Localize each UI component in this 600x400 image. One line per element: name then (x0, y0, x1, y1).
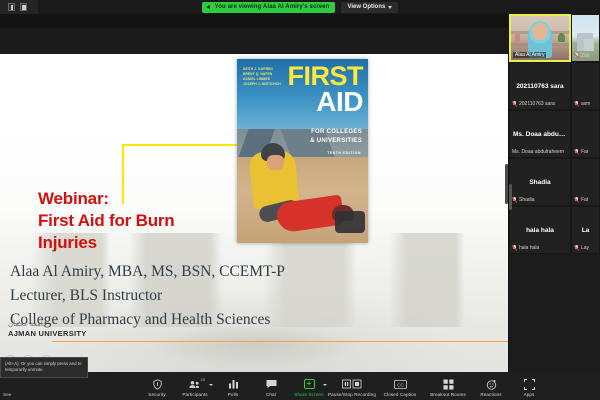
tile-corner-label: hala hala (512, 245, 539, 251)
logo-rule-line (52, 341, 508, 343)
tile-display-name: hala hala (523, 227, 557, 234)
logo-english-text: AJMAN UNIVERSITY (8, 329, 126, 338)
mic-muted-icon (574, 149, 579, 155)
book-edition: TENTH EDITION (327, 151, 361, 155)
tile-name-text: Shadia (519, 197, 535, 203)
toolbar-label: Participants (182, 392, 207, 397)
toolbar-button-share-screen[interactable]: + Share Screen (290, 376, 328, 397)
toolbar-label: Breakout Rooms (430, 392, 466, 397)
toolbar-button-participants[interactable]: 10 Participants (176, 376, 214, 397)
slide-title-line: First Aid for Burn (38, 210, 174, 232)
tile-display-name: 202110763 sara (513, 83, 566, 90)
toolbar-label: Pause/Stop Recording (328, 392, 376, 397)
participant-tile[interactable]: hala hala hala hala (509, 206, 571, 254)
zoom-meeting-window: You are viewing Alaa Al Amiry's screen V… (0, 0, 600, 400)
shield-icon (152, 379, 163, 390)
chevron-up-icon[interactable] (209, 384, 213, 386)
presenter-line: Lecturer, BLS Instructor (10, 284, 285, 308)
tile-name-text: Fat (581, 197, 588, 203)
mic-muted-icon (512, 101, 517, 107)
video-object (515, 34, 520, 42)
participant-tile[interactable]: Shadia Shadia (509, 158, 571, 206)
participant-tile[interactable]: La Lay (571, 206, 600, 254)
tile-name-text: Lay (581, 245, 589, 251)
gallery-row: Ms. Doaa abdulr... Ms. Doaa abdulraheem … (509, 110, 600, 158)
toolbar-button-polls[interactable]: Polls (214, 376, 252, 397)
toolbar-button-apps[interactable]: Apps (510, 376, 548, 397)
mic-muted-icon (512, 197, 517, 203)
participant-tile[interactable]: Fat (571, 158, 600, 206)
book-bicycle (335, 211, 365, 233)
mic-muted-icon (512, 245, 517, 251)
tile-corner-label: Fat (574, 197, 588, 203)
screen-sharing-notice: You are viewing Alaa Al Amiry's screen (202, 2, 336, 13)
tile-corner-label: Lay (574, 245, 589, 251)
pause-stop-recording-icon (342, 379, 362, 390)
toolbar-label: Share Screen (294, 392, 323, 397)
participant-tile[interactable]: Ms. Doaa abdulr... Ms. Doaa abdulraheem (509, 110, 571, 158)
shared-screen-stage[interactable]: KEITH J. KARREN BRENT Q. HAFEN DANIEL LI… (0, 14, 509, 372)
toolbar-label: Security (148, 392, 165, 397)
mic-muted-icon (574, 197, 579, 203)
tile-name-text: 202110763 sara (519, 101, 555, 107)
toolbar-button-closed-caption[interactable]: CC Closed Caption (376, 376, 424, 397)
book-subtitle-line1: FOR COLLEGES (311, 129, 362, 135)
book-cover-image: KEITH J. KARREN BRENT Q. HAFEN DANIEL LI… (237, 59, 368, 243)
video-plant (558, 33, 565, 42)
participant-gallery[interactable]: Alaa Al Amiry Zah 202110763 sara 20 (509, 14, 600, 372)
participant-tile[interactable]: 202110763 sara 202110763 sara (509, 62, 571, 110)
mic-muted-icon (574, 101, 579, 107)
mic-muted-icon (574, 245, 579, 251)
participants-count-badge: 10 (201, 378, 205, 382)
tile-corner-label: 202110763 sara (512, 101, 555, 107)
slide-title: Webinar: First Aid for Burn Injuries (38, 188, 174, 253)
participant-tile-active-speaker[interactable]: Alaa Al Amiry (509, 14, 571, 62)
participant-tile[interactable]: Far (571, 110, 600, 158)
logo-arabic-text: جامعة عجمان (8, 320, 126, 328)
view-options-label: View Options (347, 4, 385, 10)
book-author: JOSEPH J. MISTOVICH (243, 82, 281, 87)
toolbar-button-breakout-rooms[interactable]: Breakout Rooms (424, 376, 472, 397)
mic-muted-icon (574, 53, 579, 59)
tile-corner-label: Ms. Doaa abdulraheem (512, 149, 564, 155)
book-title-aid: AID (316, 90, 363, 115)
book-author-list: KEITH J. KARREN BRENT Q. HAFEN DANIEL LI… (243, 67, 281, 87)
gallery-row: Shadia Shadia Fat (509, 158, 600, 206)
view-options-button[interactable]: View Options (341, 2, 398, 13)
presentation-slide: KEITH J. KARREN BRENT Q. HAFEN DANIEL LI… (0, 28, 508, 372)
chevron-down-icon (388, 6, 392, 9)
share-screen-icon: + (304, 379, 315, 390)
tile-display-name: La (579, 227, 593, 234)
presenter-line: Alaa Al Amiry, MBA, MS, BSN, CCEMT-P (10, 260, 285, 284)
speaker-icon (206, 4, 212, 10)
chat-bubble-icon (266, 379, 277, 390)
poll-bars-icon (228, 379, 239, 390)
gallery-scrollbar[interactable] (509, 184, 512, 210)
book-subtitle-line2: & UNIVERSITIES (310, 138, 362, 144)
toolbar-label: Closed Caption (384, 392, 417, 397)
toolbar-button-pause-stop-recording[interactable]: Pause/Stop Recording (328, 376, 376, 397)
top-bar: You are viewing Alaa Al Amiry's screen V… (0, 0, 600, 14)
toolbar-label: Chat (266, 392, 276, 397)
toolbar-label: Polls (228, 392, 238, 397)
sharing-notice-text: You are viewing Alaa Al Amiry's screen (215, 4, 330, 10)
participant-tile[interactable]: asm (571, 62, 600, 110)
svg-text:CC: CC (397, 382, 404, 387)
book-rescuer-face (267, 155, 284, 170)
gallery-row: Alaa Al Amiry Zah (509, 14, 600, 62)
tile-corner-label: asm (574, 101, 590, 107)
apps-icon (524, 379, 535, 390)
toolbar-items: Security 10 Participants Polls (138, 376, 548, 397)
meeting-toolbar[interactable]: (Alt+A). Or you can simply press and to … (0, 372, 600, 400)
tile-name-text: Zah (581, 53, 590, 59)
toolbar-button-reactions[interactable]: Reactions (472, 376, 510, 397)
tile-name-text: Alaa Al Amiry (515, 52, 544, 58)
reactions-icon (486, 379, 497, 390)
toolbar-button-security[interactable]: Security (138, 376, 176, 397)
toolbar-label: Apps (524, 392, 535, 397)
breakout-rooms-icon (443, 379, 454, 390)
tile-name-label: Alaa Al Amiry (513, 52, 546, 58)
gallery-row: 202110763 sara 202110763 sara asm (509, 62, 600, 110)
ajman-university-logo: جامعة عجمان AJMAN UNIVERSITY (8, 320, 126, 338)
slide-title-line: Injuries (38, 232, 174, 254)
chevron-up-icon[interactable] (323, 384, 327, 386)
tile-name-text: Far (581, 149, 589, 155)
stop-button[interactable] (20, 3, 27, 11)
tile-corner-label: Shadia (512, 197, 535, 203)
video-building-2 (584, 39, 594, 51)
participant-tile[interactable]: Zah (571, 14, 600, 62)
tile-corner-label: Far (574, 149, 589, 155)
toolbar-button-chat[interactable]: Chat (252, 376, 290, 397)
closed-caption-icon: CC (394, 379, 407, 390)
mute-audio-button-label[interactable]: See (3, 392, 11, 397)
toolbar-label: Reactions (480, 392, 501, 397)
tile-corner-label: Zah (574, 53, 590, 59)
gallery-row: hala hala hala hala La Lay (509, 206, 600, 254)
mute-tooltip: (Alt+A). Or you can simply press and to … (0, 357, 88, 378)
tile-name-text: Ms. Doaa abdulraheem (512, 149, 564, 155)
tile-name-text: asm (581, 101, 590, 107)
slide-title-line: Webinar: (38, 188, 174, 210)
slide-top-band (0, 28, 508, 54)
tile-display-name: Ms. Doaa abdulr... (510, 131, 570, 138)
tile-name-text: hala hala (519, 245, 539, 251)
tile-display-name: Shadia (526, 179, 553, 186)
window-controls[interactable] (0, 0, 38, 14)
pause-button[interactable] (8, 3, 15, 11)
participants-icon (189, 379, 201, 390)
stage-scrollbar[interactable] (505, 164, 508, 204)
video-person-face (533, 23, 548, 40)
